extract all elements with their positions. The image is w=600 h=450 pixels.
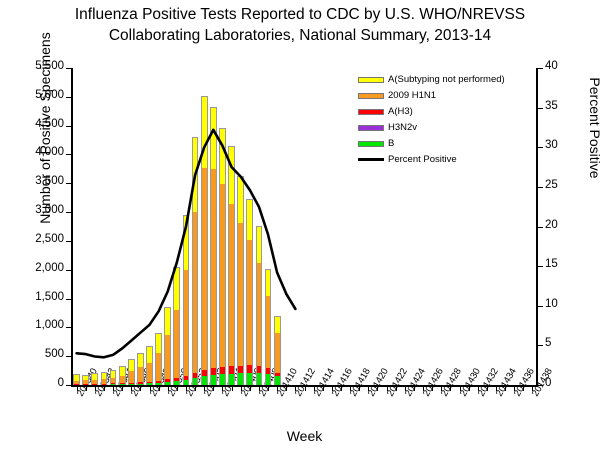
x-tick xyxy=(104,386,105,391)
x-tick xyxy=(286,386,287,391)
y-tick-label-left: 4,500 xyxy=(10,118,64,130)
legend-color-swatch xyxy=(358,109,384,115)
x-tick xyxy=(159,386,160,391)
chart-title-line-1: Influenza Positive Tests Reported to CDC… xyxy=(75,6,525,23)
y-tick-label-right: 20 xyxy=(545,219,585,231)
legend-label: A(H3) xyxy=(388,104,413,120)
x-tick xyxy=(177,386,178,391)
x-tick xyxy=(377,386,378,391)
legend-label: B xyxy=(388,136,394,152)
x-tick xyxy=(487,386,488,391)
y-tick-left xyxy=(66,299,71,300)
y-tick-label-left: 500 xyxy=(10,348,64,360)
y-tick-label-left: 2,000 xyxy=(10,262,64,274)
legend-label: Percent Positive xyxy=(388,152,457,168)
y-tick-right xyxy=(538,108,543,109)
x-tick xyxy=(359,386,360,391)
y-tick-left xyxy=(66,327,71,328)
x-tick xyxy=(122,386,123,391)
x-tick xyxy=(523,386,524,391)
x-tick xyxy=(414,386,415,391)
y-tick-left xyxy=(66,356,71,357)
y-tick-label-left: 4,000 xyxy=(10,146,64,158)
y-tick-right xyxy=(538,68,543,69)
y-tick-right xyxy=(538,345,543,346)
legend-item[interactable]: B xyxy=(358,136,528,152)
legend-color-swatch xyxy=(358,93,384,99)
x-tick xyxy=(323,386,324,391)
y-tick-right xyxy=(538,187,543,188)
y-tick-left xyxy=(66,126,71,127)
y-tick-label-left: 1,000 xyxy=(10,319,64,331)
x-tick xyxy=(140,386,141,391)
y-tick-left xyxy=(66,212,71,213)
legend-item[interactable]: A(H3) xyxy=(358,104,528,120)
chart-title: Influenza Positive Tests Reported to CDC… xyxy=(0,4,600,46)
x-tick xyxy=(432,386,433,391)
y-tick-right xyxy=(538,147,543,148)
y-tick-right xyxy=(538,266,543,267)
y-tick-label-left: 0 xyxy=(10,377,64,389)
y-tick-label-right: 15 xyxy=(545,258,585,270)
chart-legend: A(Subtyping not performed)2009 H1N1A(H3)… xyxy=(358,72,528,168)
y-tick-label-right: 35 xyxy=(545,100,585,112)
legend-label: H3N2v xyxy=(388,120,417,136)
y-tick-label-right: 25 xyxy=(545,179,585,191)
y-tick-label-left: 5,500 xyxy=(10,60,64,72)
x-tick xyxy=(505,386,506,391)
x-tick xyxy=(268,386,269,391)
legend-item[interactable]: A(Subtyping not performed) xyxy=(358,72,528,88)
y-tick-left xyxy=(66,154,71,155)
y-tick-left xyxy=(66,241,71,242)
y-tick-left xyxy=(66,270,71,271)
y-tick-left xyxy=(66,385,71,386)
legend-item[interactable]: 2009 H1N1 xyxy=(358,88,528,104)
y-tick-right xyxy=(538,306,543,307)
y-tick-label-right: 10 xyxy=(545,298,585,310)
legend-item[interactable]: Percent Positive xyxy=(358,152,528,168)
y-tick-left xyxy=(66,68,71,69)
y-tick-label-right: 40 xyxy=(545,60,585,72)
x-tick xyxy=(396,386,397,391)
y-axis-label-left: Number of Positive Specimens xyxy=(37,0,53,268)
legend-color-swatch xyxy=(358,141,384,147)
legend-color-swatch xyxy=(358,77,384,83)
x-tick xyxy=(469,386,470,391)
y-tick-right xyxy=(538,227,543,228)
x-tick xyxy=(450,386,451,391)
y-tick-label-right: 30 xyxy=(545,139,585,151)
y-tick-left xyxy=(66,183,71,184)
x-tick xyxy=(213,386,214,391)
influenza-surveillance-chart: Influenza Positive Tests Reported to CDC… xyxy=(0,0,600,450)
x-axis-label: Week xyxy=(72,428,537,444)
legend-item[interactable]: H3N2v xyxy=(358,120,528,136)
y-tick-label-left: 1,500 xyxy=(10,291,64,303)
x-tick xyxy=(250,386,251,391)
y-tick-label-left: 2,500 xyxy=(10,233,64,245)
x-tick xyxy=(86,386,87,391)
y-tick-label-right: 0 xyxy=(545,377,585,389)
y-tick-label-left: 5,000 xyxy=(10,89,64,101)
x-tick xyxy=(195,386,196,391)
legend-label: A(Subtyping not performed) xyxy=(388,72,505,88)
y-tick-label-left: 3,500 xyxy=(10,175,64,187)
y-tick-label-left: 3,000 xyxy=(10,204,64,216)
x-tick xyxy=(232,386,233,391)
y-axis-label-right: Percent Positive xyxy=(587,0,600,268)
x-tick xyxy=(305,386,306,391)
legend-label: 2009 H1N1 xyxy=(388,88,436,104)
y-tick-left xyxy=(66,97,71,98)
y-tick-label-right: 5 xyxy=(545,337,585,349)
legend-line-swatch xyxy=(358,158,384,161)
legend-color-swatch xyxy=(358,125,384,131)
chart-title-line-2: Collaborating Laboratories, National Sum… xyxy=(0,25,600,46)
x-tick xyxy=(341,386,342,391)
